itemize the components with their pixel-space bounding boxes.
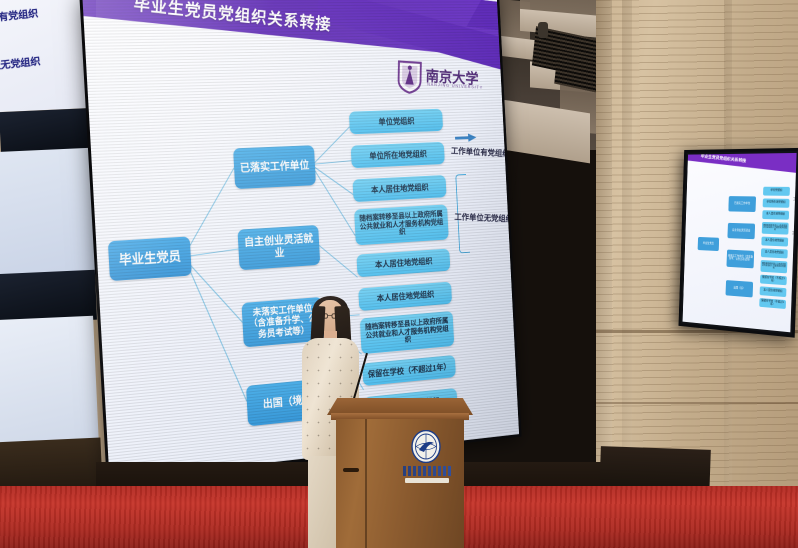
side-diagram-leaf-8: 保留在学校（不超过1年） <box>760 275 787 286</box>
side-diagram-leaf-7: 随档案转移至县以上政府所属公共就业和人才服务机构党组织 <box>760 260 787 273</box>
diagram-leaf-3[interactable]: 本人居住地党组织 <box>352 175 446 202</box>
podium <box>327 398 473 548</box>
nanjing-university-logo: 南京大学 NANJING UNIVERSITY <box>397 59 489 101</box>
side-diagram-branch-4: 出国（境） <box>726 280 754 297</box>
side-monitor-slide: 毕业生党员党组织关系转接 毕业生党员 已落实工作单位 自主创业灵活就业 未落实工… <box>683 153 797 332</box>
side-diagram-leaf-6: 本人居住地党组织 <box>761 248 788 258</box>
screenshot-root: 单位有党组织 单位无党组织 毕业生党员党组织关系转接 南京大学 NANJING … <box>0 0 798 548</box>
diagram-branch-2[interactable]: 自主创业灵活就业 <box>237 225 320 270</box>
side-diagram-leaf-2: 单位所在地党组织 <box>763 198 790 207</box>
side-diagram-leaf-1: 单位党组织 <box>763 187 790 196</box>
side-diagram-root: 毕业生党员 <box>698 237 720 251</box>
diagram-leaf-4[interactable]: 随档案转移至县以上政府所属公共就业和人才服务机构党组织 <box>354 204 449 245</box>
diagram-leaf-2[interactable]: 单位所在地党组织 <box>351 142 445 168</box>
podium-nameplate <box>405 478 449 483</box>
diagram-root-node[interactable]: 毕业生党员 <box>108 236 192 281</box>
diagram-leaf-6[interactable]: 本人居住地党组织 <box>358 282 452 311</box>
side-annotation-1: 工作单位有党组织 <box>793 197 796 201</box>
left-screen-text-2: 单位无党组织 <box>0 52 41 73</box>
side-diagram-leaf-3: 本人居住地党组织 <box>762 210 789 220</box>
side-diagram-branch-3: 未落实工作单位（含准备升学、公务员考试等） <box>726 250 754 269</box>
diagram-leaf-5[interactable]: 本人居住地党组织 <box>356 249 450 278</box>
side-diagram-branch-2: 自主创业灵活就业 <box>727 223 755 239</box>
ceiling-sensor-icon <box>538 22 548 38</box>
podium-handle <box>343 468 359 472</box>
podium-body <box>336 419 464 548</box>
side-monitor[interactable]: 毕业生党员党组织关系转接 毕业生党员 已落实工作单位 自主创业灵活就业 未落实工… <box>679 148 798 338</box>
side-diagram-leaf-10: 保留在学校（不超过1年） <box>759 298 786 309</box>
side-diagram-branch-1: 已落实工作单位 <box>728 196 756 212</box>
podium-emblem-icon <box>411 430 441 463</box>
side-diagram-leaf-4: 随档案转移至县以上政府所属公共就业和人才服务机构党组织 <box>762 222 789 235</box>
podium-edge <box>365 419 367 548</box>
podium-org-name <box>403 466 451 476</box>
side-slide-title-band <box>683 153 797 176</box>
left-screen-text-1: 单位有党组织 <box>0 4 39 25</box>
annotation-label-1: 工作单位有党组织 <box>451 144 510 159</box>
side-diagram-leaf-9: 本人居住地党组织 <box>760 286 787 297</box>
diagram-branch-1[interactable]: 已落实工作单位 <box>233 145 316 189</box>
shield-icon <box>397 59 423 94</box>
left-screen-upper: 单位有党组织 单位无党组织 <box>0 0 94 112</box>
side-diagram-leaf-5: 本人居住地党组织 <box>761 237 788 247</box>
diagram-leaf-8[interactable]: 保留在学校（不超过1年） <box>362 355 456 386</box>
diagram-leaf-7[interactable]: 随档案转移至县以上政府所属公共就业和人才服务机构党组织 <box>360 311 454 354</box>
left-screen-bottom <box>0 316 99 449</box>
annotation-label-2: 工作单位无党组织 <box>454 210 513 224</box>
diagram-leaf-1[interactable]: 单位党组织 <box>349 109 443 135</box>
side-annotation-2: 工作单位无党组织 <box>792 231 797 236</box>
arrow-right-icon <box>455 133 477 142</box>
left-screen-lower <box>0 148 97 280</box>
